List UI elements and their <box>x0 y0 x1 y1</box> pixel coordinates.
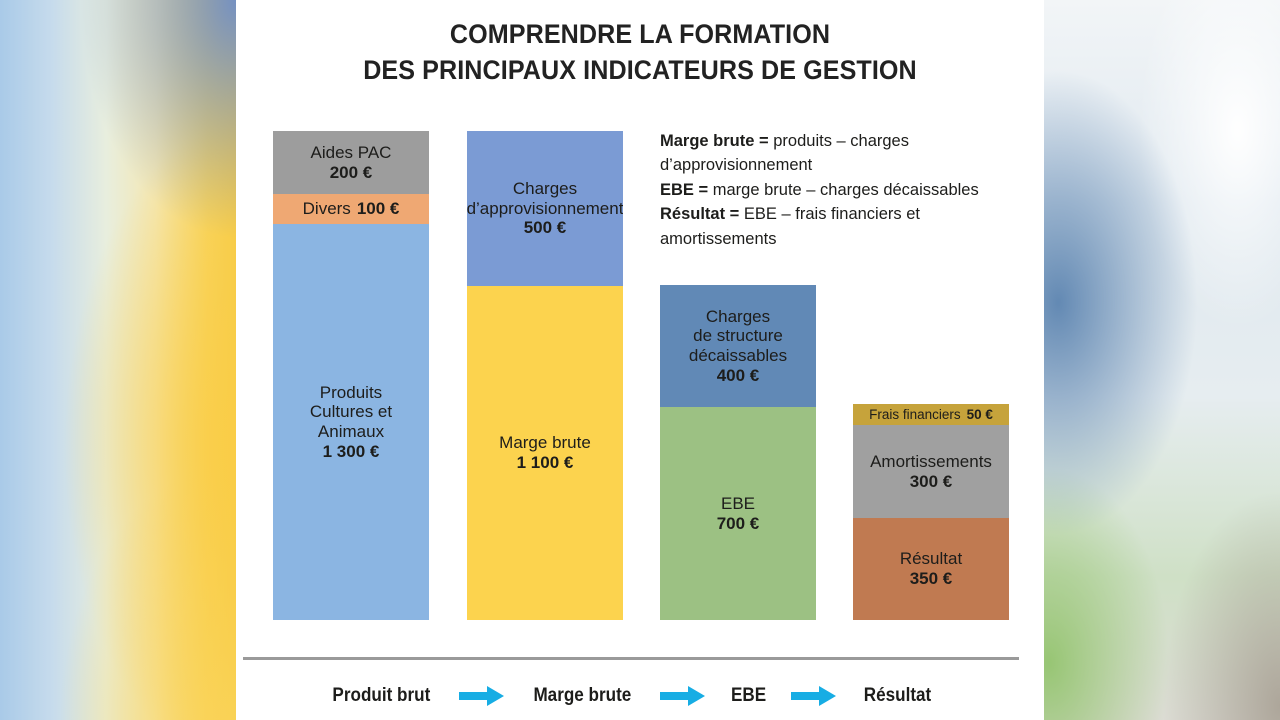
bar-column-produit-brut: Aides PAC 200 € Divers 100 € Produits Cu… <box>273 131 429 620</box>
segment-label: Divers <box>303 199 351 219</box>
segment-amount: 500 € <box>524 218 567 238</box>
bar-segment-marge-brute: Marge brute 1 100 € <box>467 286 623 620</box>
segment-label: Charges d’approvisionnement <box>467 179 623 218</box>
formula-term: Marge brute = <box>660 132 769 150</box>
formula-term: Résultat = <box>660 205 739 223</box>
background-gradient-right <box>1044 0 1280 720</box>
formula-resultat: Résultat = EBE – frais financiers et amo… <box>660 202 1030 251</box>
bar-segment-ebe: EBE 700 € <box>660 407 816 620</box>
flow-step-resultat: Résultat <box>864 685 931 707</box>
segment-amount: 350 € <box>910 569 953 589</box>
segment-amount: 1 100 € <box>517 453 574 473</box>
page-title-line-2: DES PRINCIPAUX INDICATEURS DE GESTION <box>264 52 1015 88</box>
bar-segment-charges-structure-decaissables: Charges de structure décaissables 400 € <box>660 285 816 407</box>
footer-divider <box>243 657 1019 660</box>
segment-label: Amortissements <box>870 452 992 472</box>
formula-term: EBE = <box>660 181 708 199</box>
bar-segment-amortissements: Amortissements 300 € <box>853 425 1009 518</box>
bar-segment-charges-approvisionnement: Charges d’approvisionnement 500 € <box>467 131 623 286</box>
bar-segment-produits-cultures-animaux: Produits Cultures et Animaux 1 300 € <box>273 224 429 620</box>
segment-label: Aides PAC <box>311 143 392 163</box>
segment-label: Charges de structure décaissables <box>689 307 787 366</box>
formula-ebe: EBE = marge brute – charges décaissables <box>660 178 1030 202</box>
bar-column-resultat: Frais financiers 50 € Amortissements 300… <box>853 404 1009 620</box>
flow-step-ebe: EBE <box>731 685 766 707</box>
background-gradient-left <box>0 0 236 720</box>
bar-column-marge-brute: Charges d’approvisionnement 500 € Marge … <box>467 131 623 620</box>
page-title-line-1: COMPRENDRE LA FORMATION <box>264 16 1015 52</box>
segment-label: Frais financiers <box>869 407 961 423</box>
arrow-right-icon <box>660 685 706 707</box>
segment-amount: 1 300 € <box>323 442 380 462</box>
flow-step-produit-brut: Produit brut <box>333 685 431 707</box>
flow-legend: Produit brut Marge brute EBE Résultat <box>243 676 1019 716</box>
bar-column-ebe: Charges de structure décaissables 400 € … <box>660 285 816 620</box>
segment-amount: 200 € <box>330 163 373 183</box>
arrow-right-icon <box>791 685 837 707</box>
segment-amount: 300 € <box>910 472 953 492</box>
segment-amount: 400 € <box>717 366 760 386</box>
bar-segment-frais-financiers: Frais financiers 50 € <box>853 404 1009 425</box>
formula-marge-brute: Marge brute = produits – charges d’appro… <box>660 129 1030 178</box>
flow-step-marge-brute: Marge brute <box>533 685 631 707</box>
segment-label: EBE <box>721 494 755 514</box>
bar-segment-divers: Divers 100 € <box>273 194 429 224</box>
infographic-panel: COMPRENDRE LA FORMATION DES PRINCIPAUX I… <box>236 0 1044 720</box>
segment-label: Résultat <box>900 549 962 569</box>
formula-block: Marge brute = produits – charges d’appro… <box>660 129 1030 251</box>
bar-segment-resultat: Résultat 350 € <box>853 518 1009 620</box>
bar-segment-aides-pac: Aides PAC 200 € <box>273 131 429 194</box>
segment-label: Marge brute <box>499 433 591 453</box>
segment-label: Produits Cultures et Animaux <box>310 383 392 442</box>
arrow-right-icon <box>459 685 505 707</box>
segment-amount: 100 € <box>357 199 400 219</box>
formula-body: marge brute – charges décaissables <box>708 181 979 199</box>
page-title: COMPRENDRE LA FORMATION DES PRINCIPAUX I… <box>264 16 1015 88</box>
segment-amount: 50 € <box>967 407 993 423</box>
segment-amount: 700 € <box>717 514 760 534</box>
